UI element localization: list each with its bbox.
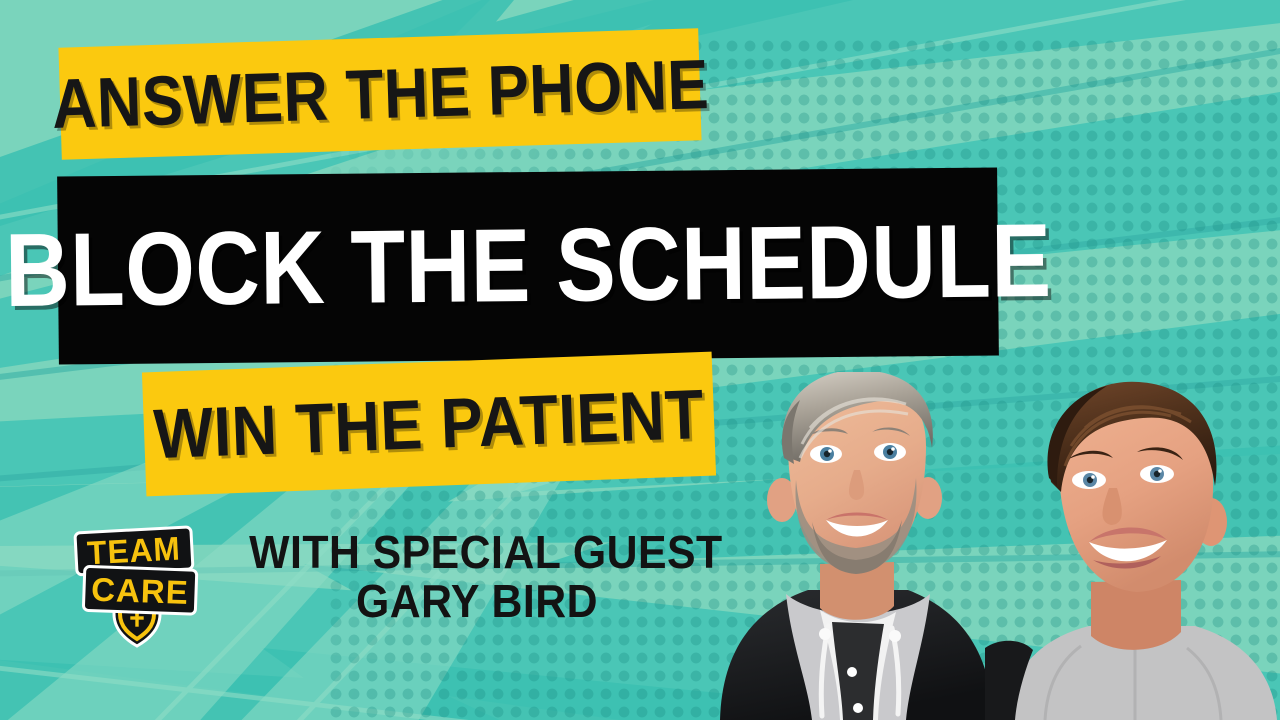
headline-banner-block-the-schedule: BLOCK THE SCHEDULE — [57, 167, 999, 364]
person-guest-right — [985, 370, 1280, 720]
headline-banner-win-the-patient: WIN THE PATIENT — [142, 352, 716, 497]
headline-line-1: ANSWER THE PHONE — [50, 49, 709, 139]
headline-line-3: WIN THE PATIENT — [153, 379, 706, 469]
logo-word-top: TEAM — [86, 530, 181, 572]
logo-word-bottom: CARE — [91, 571, 190, 611]
guest-line-2: GARY BIRD — [249, 577, 705, 626]
headline-banner-answer-the-phone: ANSWER THE PHONE — [58, 28, 701, 159]
headline-line-2: BLOCK THE SCHEDULE — [4, 209, 1051, 323]
promo-graphic: ANSWER THE PHONE BLOCK THE SCHEDULE WIN … — [0, 0, 1280, 720]
team-care-logo: TEAM CARE — [62, 522, 212, 650]
guest-line-1: WITH SPECIAL GUEST — [249, 528, 705, 577]
special-guest-text: WITH SPECIAL GUEST GARY BIRD — [232, 528, 722, 626]
